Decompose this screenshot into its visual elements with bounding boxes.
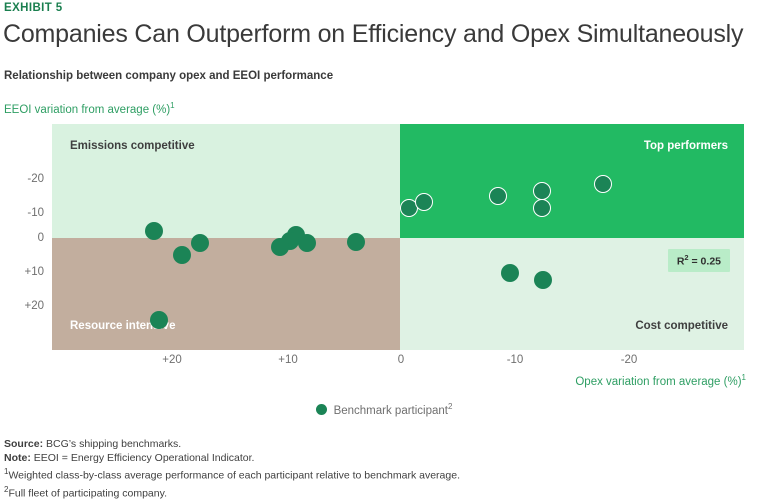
x-axis-label-footnote-marker: 1 [742, 373, 746, 382]
footnote-source-label: Source: [4, 438, 43, 450]
footnote-2: 2Full fleet of participating company. [4, 483, 744, 501]
y-tick-label: +10 [4, 266, 44, 278]
exhibit-number: EXHIBIT 5 [4, 2, 63, 14]
footnote-note: Note: EEOI = Energy Efficiency Operation… [4, 451, 744, 465]
r-squared-badge: R2 = 0.25 [668, 249, 730, 272]
x-axis-label: Opex variation from average (%)1 [575, 373, 746, 388]
scatter-point [191, 234, 209, 252]
x-tick-label: -10 [507, 354, 524, 366]
scatter-point [173, 246, 191, 264]
legend-footnote-marker: 2 [448, 402, 452, 411]
legend-item-text: Benchmark participant [334, 405, 448, 417]
r-squared-value: = 0.25 [689, 256, 721, 268]
footnote-1-text: Weighted class-by-class average performa… [8, 470, 460, 482]
x-axis-label-text: Opex variation from average (%) [575, 376, 741, 388]
scatter-point [533, 199, 551, 217]
scatter-point [534, 271, 552, 289]
quadrant-label-cost-competitive: Cost competitive [635, 320, 728, 332]
quadrant-label-emissions-competitive: Emissions competitive [70, 140, 195, 152]
footnote-note-label: Note: [4, 452, 31, 464]
quadrant-label-top-performers: Top performers [644, 140, 728, 152]
scatter-point [533, 182, 551, 200]
scatter-point [145, 222, 163, 240]
x-tick-label: +20 [162, 354, 182, 366]
scatter-point [489, 187, 507, 205]
page-title: Companies Can Outperform on Efficiency a… [3, 20, 763, 49]
y-axis-label: EEOI variation from average (%)1 [4, 101, 175, 116]
y-axis-label-text: EEOI variation from average (%) [4, 104, 170, 116]
footnote-1: 1Weighted class-by-class average perform… [4, 465, 744, 483]
footnote-source-text: BCG’s shipping benchmarks. [43, 438, 181, 450]
scatter-point [415, 193, 433, 211]
legend-marker-icon [316, 404, 327, 415]
scatter-point [271, 238, 289, 256]
quadrant-resource-intensive [52, 238, 400, 350]
footnote-source: Source: BCG’s shipping benchmarks. [4, 437, 744, 451]
y-tick-label: -10 [4, 207, 44, 219]
x-tick-label: 0 [398, 354, 404, 366]
scatter-plot-area: Emissions competitive Top performers Res… [52, 124, 744, 350]
y-axis-label-footnote-marker: 1 [170, 101, 174, 110]
footnote-note-text: EEOI = Energy Efficiency Operational Ind… [31, 452, 255, 464]
chart-legend: Benchmark participant2 [0, 402, 768, 417]
y-tick-label: -20 [4, 173, 44, 185]
legend-item-label: Benchmark participant2 [334, 402, 453, 417]
y-tick-label: 0 [4, 232, 44, 244]
footnotes: Source: BCG’s shipping benchmarks. Note:… [4, 437, 744, 501]
scatter-point [594, 175, 612, 193]
scatter-point [347, 233, 365, 251]
exhibit-page: EXHIBIT 5 Companies Can Outperform on Ef… [0, 0, 768, 493]
scatter-point [150, 311, 168, 329]
scatter-point [298, 234, 316, 252]
y-tick-label: +20 [4, 300, 44, 312]
x-tick-label: -20 [621, 354, 638, 366]
scatter-point [501, 264, 519, 282]
footnote-2-text: Full fleet of participating company. [8, 488, 167, 500]
x-tick-label: +10 [278, 354, 298, 366]
page-subtitle: Relationship between company opex and EE… [4, 70, 333, 82]
